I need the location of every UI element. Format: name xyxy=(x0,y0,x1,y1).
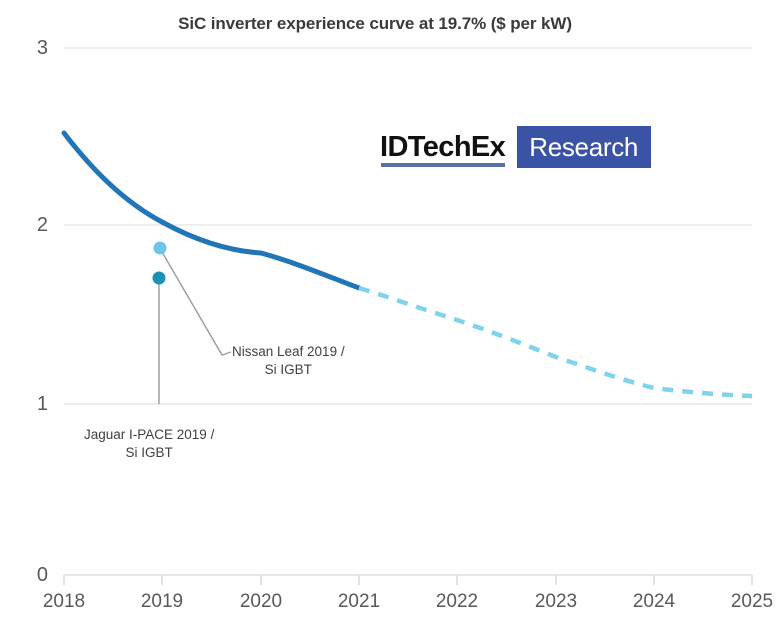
annotation-nissan-leaf: Nissan Leaf 2019 / Si IGBT xyxy=(232,343,345,379)
annotation-nissan-leaf-line2: Si IGBT xyxy=(232,361,345,379)
annotation-jaguar-ipace-line2: Si IGBT xyxy=(84,444,214,462)
annotation-nissan-leaf-line1: Nissan Leaf 2019 / xyxy=(232,343,345,361)
x-axis-tick-2021: 2021 xyxy=(314,592,404,611)
leader-line-nissan xyxy=(162,252,231,355)
x-axis-tick-2020: 2020 xyxy=(216,592,306,611)
x-axis-tick-2023: 2023 xyxy=(511,592,601,611)
annotation-jaguar-ipace-line1: Jaguar I-PACE 2019 / xyxy=(84,426,214,444)
chart-svg xyxy=(0,0,784,617)
annotation-jaguar-ipace: Jaguar I-PACE 2019 / Si IGBT xyxy=(84,426,214,462)
series-line-historic xyxy=(64,133,359,288)
y-axis-tick-2: 2 xyxy=(14,215,48,235)
y-axis-tick-3: 3 xyxy=(14,38,48,58)
y-axis-tick-0: 0 xyxy=(14,565,48,585)
logo-brand: IDTechEx xyxy=(380,126,511,168)
chart-page: SiC inverter experience curve at 19.7% (… xyxy=(0,0,784,617)
x-axis-tick-2022: 2022 xyxy=(412,592,502,611)
x-axis-ticks xyxy=(64,575,752,585)
plot-area: 3 2 1 0 2018 2019 2020 2021 2022 2023 20… xyxy=(0,0,784,617)
y-axis-tick-1: 1 xyxy=(14,394,48,414)
logo-product-text: Research xyxy=(529,134,638,160)
x-axis-tick-2025: 2025 xyxy=(707,592,784,611)
logo-brand-text: IDTechEx xyxy=(380,133,505,162)
data-point-nissan-leaf[interactable] xyxy=(154,242,167,255)
idtechex-research-logo: IDTechEx Research xyxy=(380,126,651,168)
logo-underline-rule xyxy=(381,163,505,167)
series-line-forecast xyxy=(359,288,752,396)
x-axis-tick-2019: 2019 xyxy=(117,592,207,611)
x-axis-tick-2018: 2018 xyxy=(19,592,109,611)
logo-product-box: Research xyxy=(517,126,651,168)
data-point-jaguar-ipace[interactable] xyxy=(153,272,166,285)
x-axis-tick-2024: 2024 xyxy=(609,592,699,611)
